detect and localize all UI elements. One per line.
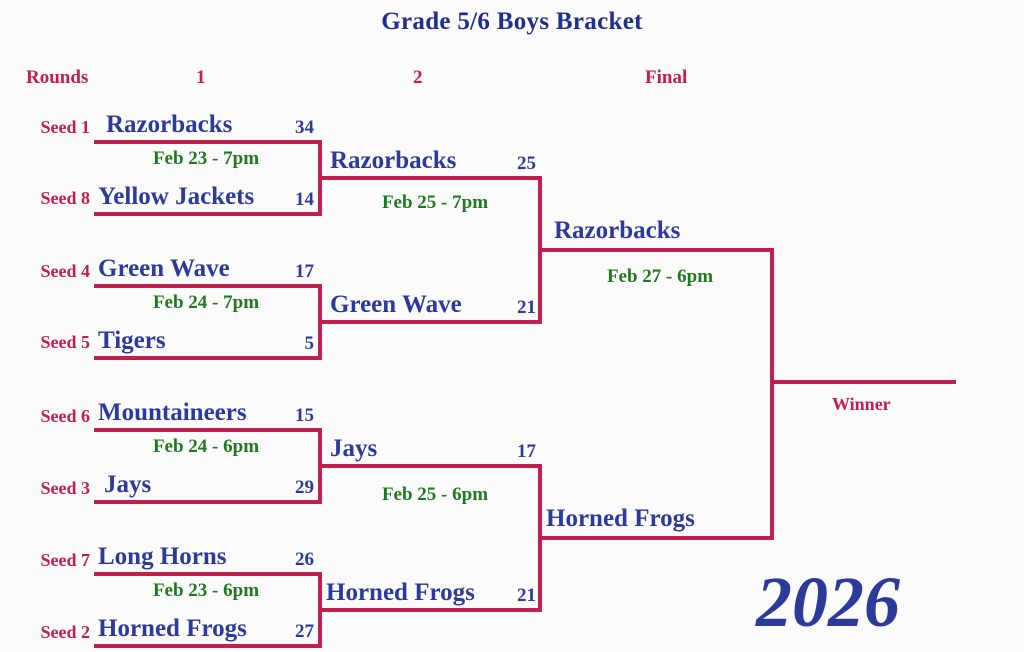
winner-label: Winner — [832, 394, 891, 415]
bracket-line — [94, 284, 322, 288]
team-name-r1-m3-t2: Jays — [104, 472, 151, 497]
match-date-r2-m2: Feb 25 - 6pm — [330, 484, 540, 506]
team-score-r1-m4-t2: 27 — [258, 622, 314, 641]
bracket-line — [540, 536, 774, 540]
seed-label-8: Seed 8 — [18, 188, 90, 209]
round-header-final: Final — [645, 67, 687, 89]
team-name-r2-m2-t2: Horned Frogs — [326, 580, 475, 605]
team-name-r1-m3-t1: Mountaineers — [98, 400, 247, 425]
bracket-line — [94, 500, 322, 504]
match-date-r1-m4: Feb 23 - 6pm — [94, 580, 318, 602]
team-score-r1-m2-t2: 5 — [258, 334, 314, 353]
team-name-r1-m2-t1: Green Wave — [98, 256, 230, 281]
bracket-line — [540, 248, 774, 252]
team-score-r1-m3-t2: 29 — [258, 478, 314, 497]
bracket-line — [320, 320, 542, 324]
winner-line — [770, 380, 956, 384]
team-score-r1-m4-t1: 26 — [258, 550, 314, 569]
team-name-r1-m1-t1: Razorbacks — [106, 112, 232, 137]
seed-label-5: Seed 5 — [18, 332, 90, 353]
seed-label-7: Seed 7 — [18, 550, 90, 571]
bracket-line — [94, 428, 322, 432]
team-name-r1-m2-t2: Tigers — [98, 328, 166, 353]
page-title: Grade 5/6 Boys Bracket — [0, 8, 1024, 36]
team-score-r2-m2-t2: 21 — [480, 586, 536, 605]
match-date-r1-m3: Feb 24 - 6pm — [94, 436, 318, 458]
team-score-r1-m1-t2: 14 — [258, 190, 314, 209]
team-score-r2-m2-t1: 17 — [480, 442, 536, 461]
round-header-2: 2 — [413, 67, 423, 89]
team-score-r2-m1-t1: 25 — [480, 154, 536, 173]
bracket-line — [94, 356, 322, 360]
team-name-r2-m2-t1: Jays — [330, 436, 377, 461]
bracket-line — [94, 140, 322, 144]
team-name-r1-m1-t2: Yellow Jackets — [98, 184, 254, 209]
seed-label-2: Seed 2 — [18, 622, 90, 643]
bracket-page: Grade 5/6 Boys Bracket Rounds 1 2 Final … — [0, 0, 1024, 652]
match-date-r2-m1: Feb 25 - 7pm — [330, 192, 540, 214]
team-name-r1-m4-t1: Long Horns — [98, 544, 227, 569]
bracket-line — [320, 464, 542, 468]
seed-label-6: Seed 6 — [18, 406, 90, 427]
team-score-r1-m3-t1: 15 — [258, 406, 314, 425]
bracket-line — [94, 572, 322, 576]
seed-label-3: Seed 3 — [18, 478, 90, 499]
team-name-final-t1: Razorbacks — [554, 218, 680, 243]
team-score-r1-m1-t1: 34 — [258, 118, 314, 137]
team-name-r2-m1-t2: Green Wave — [330, 292, 462, 317]
round-header-1: 1 — [196, 67, 206, 89]
seed-label-1: Seed 1 — [18, 117, 90, 138]
team-score-r1-m2-t1: 17 — [258, 262, 314, 281]
rounds-header-label: Rounds — [26, 67, 88, 89]
seed-label-4: Seed 4 — [18, 261, 90, 282]
team-name-r2-m1-t1: Razorbacks — [330, 148, 456, 173]
year-label: 2026 — [756, 566, 900, 638]
bracket-line — [94, 644, 322, 648]
team-name-final-t2: Horned Frogs — [546, 506, 695, 531]
bracket-line — [320, 608, 542, 612]
match-date-final: Feb 27 - 6pm — [552, 266, 768, 288]
bracket-line — [320, 176, 542, 180]
bracket-line — [770, 248, 774, 540]
match-date-r1-m2: Feb 24 - 7pm — [94, 292, 318, 314]
match-date-r1-m1: Feb 23 - 7pm — [94, 148, 318, 170]
bracket-line — [94, 212, 322, 216]
team-score-r2-m1-t2: 21 — [480, 298, 536, 317]
team-name-r1-m4-t2: Horned Frogs — [98, 616, 247, 641]
